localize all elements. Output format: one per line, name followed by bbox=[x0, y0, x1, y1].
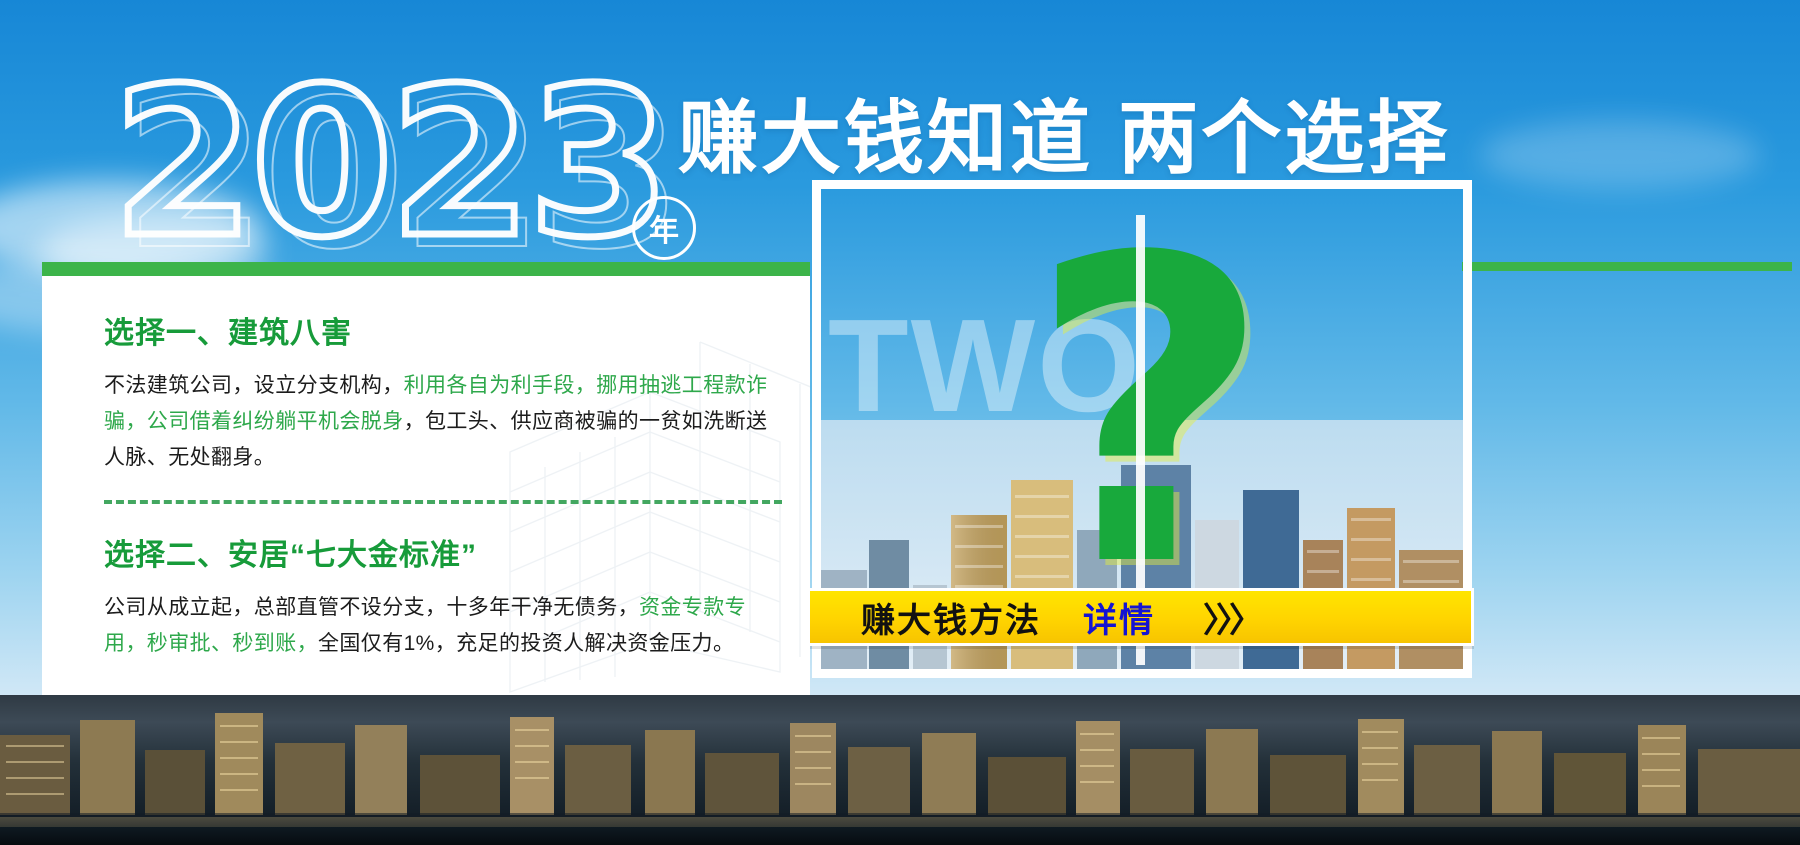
section-two-body: 公司从成立起，总部直管不设分支，十多年干净无债务，资金专款专用，秒审批、秒到账，… bbox=[104, 590, 782, 662]
section-one: 选择一、建筑八害 不法建筑公司，设立分支机构，利用各自为利手段，挪用抽逃工程款诈… bbox=[104, 308, 782, 476]
section-divider bbox=[104, 500, 782, 504]
section-one-body: 不法建筑公司，设立分支机构，利用各自为利手段，挪用抽逃工程款诈骗，公司借着纠纷躺… bbox=[104, 368, 782, 476]
question-mark-graphic: ? bbox=[1028, 205, 1272, 625]
cta-button[interactable]: 赚大钱方法 详情 〉〉〉 bbox=[806, 588, 1474, 646]
section-two: 选择二、安居“七大金标准” 公司从成立起，总部直管不设分支，十多年干净无债务，资… bbox=[104, 530, 782, 662]
year-outline: 2023 bbox=[112, 62, 667, 267]
content-card: 选择一、建筑八害 不法建筑公司，设立分支机构，利用各自为利手段，挪用抽逃工程款诈… bbox=[42, 262, 810, 712]
bottom-skyline-photo bbox=[0, 695, 1800, 845]
text-part: 全国仅有1%，充足的投资人解决资金压力。 bbox=[318, 632, 734, 655]
green-accent-bar bbox=[1462, 262, 1792, 271]
promo-banner: 2023 2023 年 赚大钱知道 两个选择 TWO CHOICES bbox=[0, 0, 1800, 845]
text-part: 不法建筑公司，设立分支机构， bbox=[104, 374, 404, 397]
section-one-title: 选择一、建筑八害 bbox=[104, 308, 782, 352]
text-part: 公司从成立起，总部直管不设分支，十多年干净无债务， bbox=[104, 596, 639, 619]
cloud-decoration bbox=[1480, 120, 1760, 190]
card-green-topbar bbox=[42, 262, 810, 276]
cta-main-label: 赚大钱方法 bbox=[861, 593, 1041, 642]
cta-sub-label: 详情 bbox=[1083, 593, 1155, 642]
chevron-right-icon: 〉〉〉 bbox=[1203, 593, 1259, 642]
section-two-title: 选择二、安居“七大金标准” bbox=[104, 530, 782, 574]
year-suffix-badge: 年 bbox=[632, 196, 696, 260]
card-content: 选择一、建筑八害 不法建筑公司，设立分支机构，利用各自为利手段，挪用抽逃工程款诈… bbox=[104, 308, 782, 662]
bottom-edge-strip bbox=[0, 827, 1800, 845]
